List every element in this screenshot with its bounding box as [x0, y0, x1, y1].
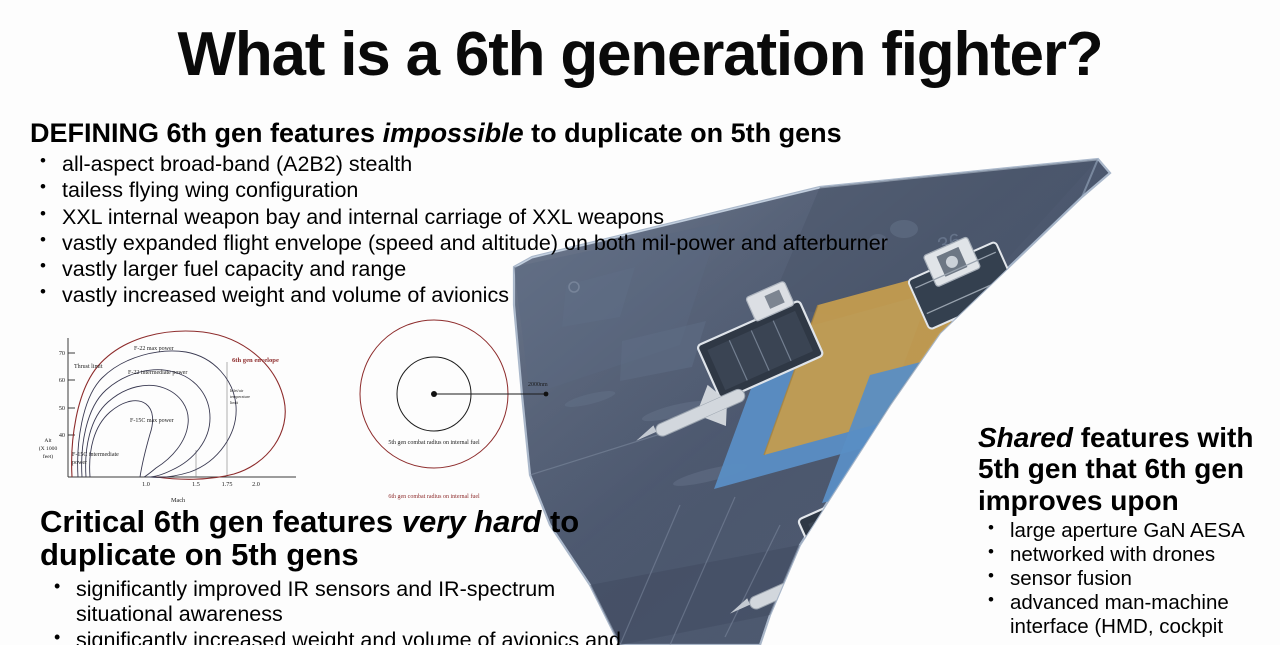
annotation-6th-gen-envelope: 6th gen envelope: [232, 357, 279, 364]
list-item-label: vastly increased weight and volume of av…: [62, 283, 509, 307]
list-item: •significantly increased weight and volu…: [40, 628, 650, 645]
y-tick-label: 60: [59, 377, 65, 384]
critical-features-heading: Critical 6th gen features very hard to d…: [40, 505, 650, 572]
bullet-icon: •: [988, 566, 994, 586]
critical-heading-part1: Critical 6th gen features: [40, 504, 402, 539]
radius-end-dot: [544, 392, 549, 397]
annotation-thrust-limit: Thrust limit: [74, 364, 103, 370]
svg-text:feet): feet): [43, 453, 53, 460]
bullet-icon: •: [40, 256, 46, 276]
y-tick-label: 50: [59, 405, 65, 412]
defining-features-heading: DEFINING 6th gen features impossible to …: [30, 118, 930, 148]
list-item: •large aperture GaN AESA: [978, 519, 1278, 543]
x-tick-label: 1.0: [142, 481, 150, 488]
inner-radius-label: 5th gen combat radius on internal fuel: [388, 439, 480, 446]
radius-value-label: 2000nm: [528, 382, 548, 388]
list-item-label: significantly increased weight and volum…: [76, 628, 621, 645]
bullet-icon: •: [54, 576, 60, 597]
defining-heading-part1: DEFINING 6th gen features: [30, 118, 383, 148]
shared-heading-emphasis: Shared: [978, 422, 1073, 453]
svg-text:limit: limit: [230, 400, 239, 405]
bullet-icon: •: [40, 230, 46, 250]
flight-envelope-chart: 70 60 50 40 1.0 1.5 1.75 2.0 Alt (X 1000…: [28, 322, 328, 512]
bullet-icon: •: [40, 177, 46, 197]
list-item: •XXL internal weapon bay and internal ca…: [30, 205, 930, 230]
center-dot: [431, 391, 437, 397]
list-item-label: XXL internal weapon bay and internal car…: [62, 205, 664, 229]
svg-text:(X 1000: (X 1000: [39, 445, 58, 452]
svg-text:temperature: temperature: [230, 394, 250, 399]
list-item: •vastly expanded flight envelope (speed …: [30, 231, 930, 256]
list-item: •significantly improved IR sensors and I…: [40, 577, 650, 627]
annotation-temp-limit: Inlet/air: [230, 388, 244, 393]
bullet-icon: •: [54, 627, 60, 645]
defining-features-section: DEFINING 6th gen features impossible to …: [30, 118, 930, 309]
bullet-icon: •: [40, 282, 46, 302]
bullet-icon: •: [988, 518, 994, 538]
list-item-label: all-aspect broad-band (A2B2) stealth: [62, 152, 412, 176]
y-tick-label: 40: [59, 432, 65, 439]
critical-heading-emphasis: very hard: [402, 504, 542, 539]
list-item: •sensor fusion: [978, 567, 1278, 591]
list-item: •vastly increased weight and volume of a…: [30, 283, 930, 308]
defining-features-list: •all-aspect broad-band (A2B2) stealth •t…: [30, 152, 930, 308]
list-item: •tailess flying wing configuration: [30, 178, 930, 203]
bullet-icon: •: [988, 590, 994, 610]
list-item-label: significantly improved IR sensors and IR…: [76, 577, 555, 626]
annotation-f22-max: F-22 max power: [134, 346, 174, 352]
outer-radius-label: 6th gen combat radius on internal fuel: [388, 493, 480, 500]
slide-canvas: What is a 6th generation fighter?: [0, 0, 1280, 645]
shared-features-heading: Shared features with 5th gen that 6th ge…: [978, 422, 1278, 516]
list-item: •all-aspect broad-band (A2B2) stealth: [30, 152, 930, 177]
bullet-icon: •: [988, 542, 994, 562]
bullet-icon: •: [40, 151, 46, 171]
chart-y-axis-label: Alt: [44, 438, 52, 444]
list-item-label: tailess flying wing configuration: [62, 178, 358, 202]
annotation-f22-intermediate: F-22 intermediate power: [128, 370, 187, 376]
bullet-icon: •: [40, 204, 46, 224]
list-item-label: networked with drones: [1010, 543, 1215, 566]
list-item: •advanced man-machine interface (HMD, co…: [978, 591, 1278, 639]
svg-text:power: power: [72, 460, 87, 466]
list-item-label: advanced man-machine interface (HMD, coc…: [1010, 591, 1229, 638]
shared-features-list: •large aperture GaN AESA •networked with…: [978, 519, 1278, 639]
x-tick-label: 1.5: [192, 481, 200, 488]
critical-features-section: Critical 6th gen features very hard to d…: [40, 505, 650, 645]
annotation-f15c-max: F-15C max power: [130, 418, 174, 424]
list-item: •vastly larger fuel capacity and range: [30, 257, 930, 282]
list-item-label: vastly expanded flight envelope (speed a…: [62, 231, 888, 255]
x-tick-label: 1.75: [222, 481, 233, 488]
chart-x-axis-label: Mach: [171, 497, 186, 504]
page-title: What is a 6th generation fighter?: [0, 22, 1280, 87]
combat-radius-diagram: 2000nm 5th gen combat radius on internal…: [334, 318, 564, 506]
shared-features-section: Shared features with 5th gen that 6th ge…: [978, 422, 1278, 639]
x-tick-label: 2.0: [252, 481, 260, 488]
defining-heading-emphasis: impossible: [383, 118, 524, 148]
y-tick-label: 70: [59, 350, 65, 357]
critical-features-list: •significantly improved IR sensors and I…: [40, 577, 650, 645]
defining-heading-part2: to duplicate on 5th gens: [524, 118, 842, 148]
list-item-label: vastly larger fuel capacity and range: [62, 257, 406, 281]
annotation-f15c-intermediate: F-15C intermediate: [72, 452, 119, 458]
list-item-label: sensor fusion: [1010, 567, 1132, 590]
list-item: •networked with drones: [978, 543, 1278, 567]
list-item-label: large aperture GaN AESA: [1010, 519, 1245, 542]
